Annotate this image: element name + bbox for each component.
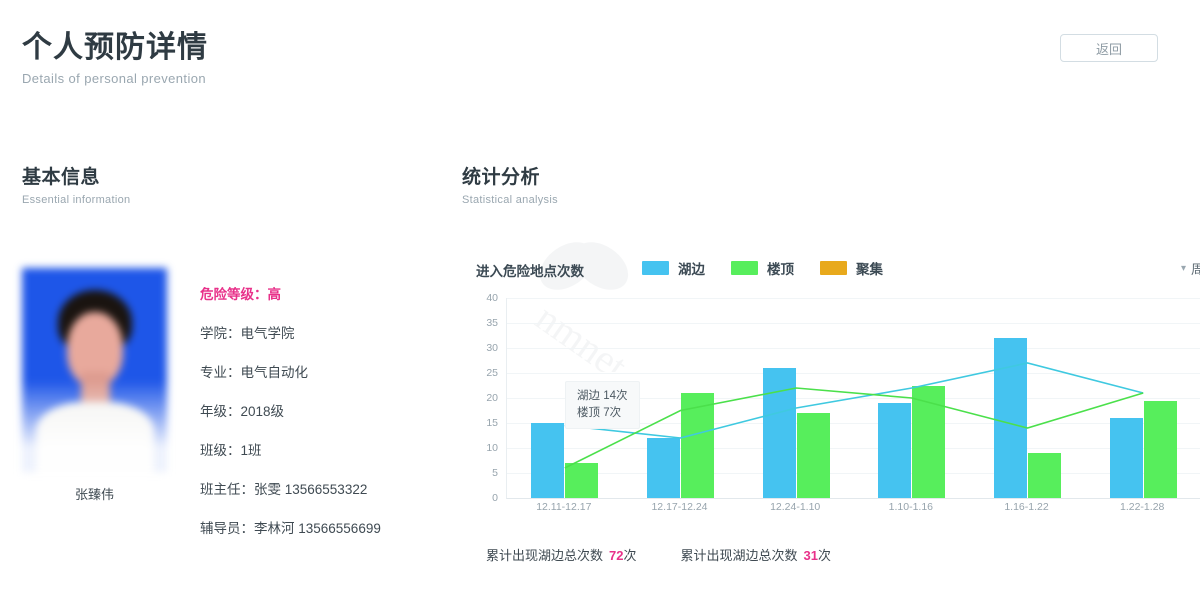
summary-unit: 次: [623, 548, 636, 563]
statistics-section: 统计分析 Statistical analysis: [462, 162, 1182, 206]
tooltip-line-lake: 湖边 14次: [577, 388, 628, 405]
trend-line-roof: [565, 388, 1143, 468]
back-button-label: 返回: [1096, 39, 1122, 58]
info-label: 学院：: [200, 326, 241, 341]
y-axis-tick: 20: [486, 392, 498, 404]
info-value: 张雯 13566553322: [254, 482, 367, 497]
y-axis-tick: 15: [486, 417, 498, 429]
period-select[interactable]: ▾ 周: [1181, 259, 1200, 278]
summary-item-lake-total: 累计出现湖边总次数72次: [486, 545, 637, 564]
statistics-subtitle: Statistical analysis: [462, 194, 1182, 206]
legend-swatch-roof: [731, 261, 758, 275]
back-button[interactable]: 返回: [1060, 34, 1158, 62]
legend-swatch-gathering: [820, 261, 847, 275]
summary-label: 累计出现湖边总次数: [681, 548, 798, 563]
info-row-danger-level: 危险等级：高: [200, 283, 381, 303]
info-value: 2018级: [241, 404, 285, 419]
basic-info-section: 基本信息 Essential information: [22, 162, 442, 206]
x-axis-tick: 12.11-12.17: [506, 501, 622, 513]
chart-x-axis: 12.11-12.17 12.17-12.24 12.24-1.10 1.10-…: [506, 501, 1200, 513]
basic-info-subtitle: Essential information: [22, 194, 442, 206]
y-axis-tick: 25: [486, 367, 498, 379]
info-label: 危险等级：: [200, 287, 268, 302]
student-info-list: 危险等级：高 学院：电气学院 专业：电气自动化 年级：2018级 班级：1班 班…: [200, 283, 381, 556]
info-label: 辅导员：: [200, 521, 254, 536]
info-row-class: 班级：1班: [200, 439, 381, 459]
summary-item-roof-total: 累计出现湖边总次数31次: [681, 545, 832, 564]
info-row-major: 专业：电气自动化: [200, 361, 381, 381]
chart-grid-area: 湖边 14次 楼顶 7次: [506, 298, 1200, 499]
info-value: 高: [268, 287, 282, 302]
legend-label-lake: 湖边: [678, 258, 705, 278]
legend-label-roof: 楼顶: [767, 258, 794, 278]
info-label: 班主任：: [200, 482, 254, 497]
chart-summary: 累计出现湖边总次数72次 累计出现湖边总次数31次: [486, 545, 831, 564]
personal-prevention-detail-page: 个人预防详情 Details of personal prevention 返回…: [0, 0, 1200, 605]
y-axis-tick: 5: [492, 467, 498, 479]
risk-visit-chart-card: 进入危险地点次数 湖边 楼顶 聚集 ▾ 周: [462, 240, 1200, 540]
summary-label: 累计出现湖边总次数: [486, 548, 603, 563]
page-header: 个人预防详情 Details of personal prevention 返回: [0, 0, 1200, 100]
basic-info-title: 基本信息: [22, 162, 442, 189]
y-axis-tick: 35: [486, 317, 498, 329]
chart-header: 进入危险地点次数 湖边 楼顶 聚集 ▾ 周: [476, 258, 1200, 282]
y-axis-tick: 10: [486, 442, 498, 454]
y-axis-tick: 30: [486, 342, 498, 354]
legend-item-roof[interactable]: 楼顶: [731, 258, 794, 278]
legend-swatch-lake: [642, 261, 669, 275]
avatar: [22, 268, 167, 472]
period-select-value: 周: [1191, 259, 1200, 278]
info-row-college: 学院：电气学院: [200, 322, 381, 342]
info-value: 李林河 13566556699: [254, 521, 381, 536]
legend-item-lake[interactable]: 湖边: [642, 258, 705, 278]
summary-value: 72: [609, 548, 623, 563]
info-row-head-teacher: 班主任：张雯 13566553322: [200, 478, 381, 498]
x-axis-tick: 1.16-1.22: [969, 501, 1085, 513]
chart-y-axis: 40 35 30 25 20 15 10 5 0: [476, 298, 502, 498]
summary-value: 31: [804, 548, 818, 563]
trend-line-lake: [565, 363, 1143, 438]
legend-label-gathering: 聚集: [856, 258, 883, 278]
chart-tooltip: 湖边 14次 楼顶 7次: [565, 381, 640, 429]
page-subtitle: Details of personal prevention: [22, 71, 206, 86]
x-axis-tick: 12.17-12.24: [622, 501, 738, 513]
profile-photo-block: 张臻伟: [22, 268, 167, 503]
tooltip-line-roof: 楼顶 7次: [577, 405, 628, 422]
info-row-grade: 年级：2018级: [200, 400, 381, 420]
chart-title: 进入危险地点次数: [476, 260, 584, 280]
chart-plot-area: 40 35 30 25 20 15 10 5 0: [476, 298, 1200, 520]
x-axis-tick: 1.22-1.28: [1084, 501, 1200, 513]
y-axis-tick: 40: [486, 292, 498, 304]
student-name: 张臻伟: [22, 484, 167, 503]
info-value: 电气学院: [241, 326, 295, 341]
x-axis-tick: 12.24-1.10: [737, 501, 853, 513]
x-axis-tick: 1.10-1.16: [853, 501, 969, 513]
legend-item-gathering[interactable]: 聚集: [820, 258, 883, 278]
page-title: 个人预防详情: [22, 22, 208, 66]
info-label: 专业：: [200, 365, 241, 380]
info-value: 1班: [241, 443, 262, 458]
chart-legend: 湖边 楼顶 聚集: [642, 258, 883, 278]
y-axis-tick: 0: [492, 492, 498, 504]
statistics-title: 统计分析: [462, 162, 1182, 189]
chevron-down-icon: ▾: [1181, 263, 1186, 274]
avatar-fade-overlay: [22, 268, 167, 472]
info-label: 年级：: [200, 404, 241, 419]
info-label: 班级：: [200, 443, 241, 458]
info-value: 电气自动化: [241, 365, 309, 380]
summary-unit: 次: [818, 548, 831, 563]
info-row-counselor: 辅导员：李林河 13566556699: [200, 517, 381, 537]
